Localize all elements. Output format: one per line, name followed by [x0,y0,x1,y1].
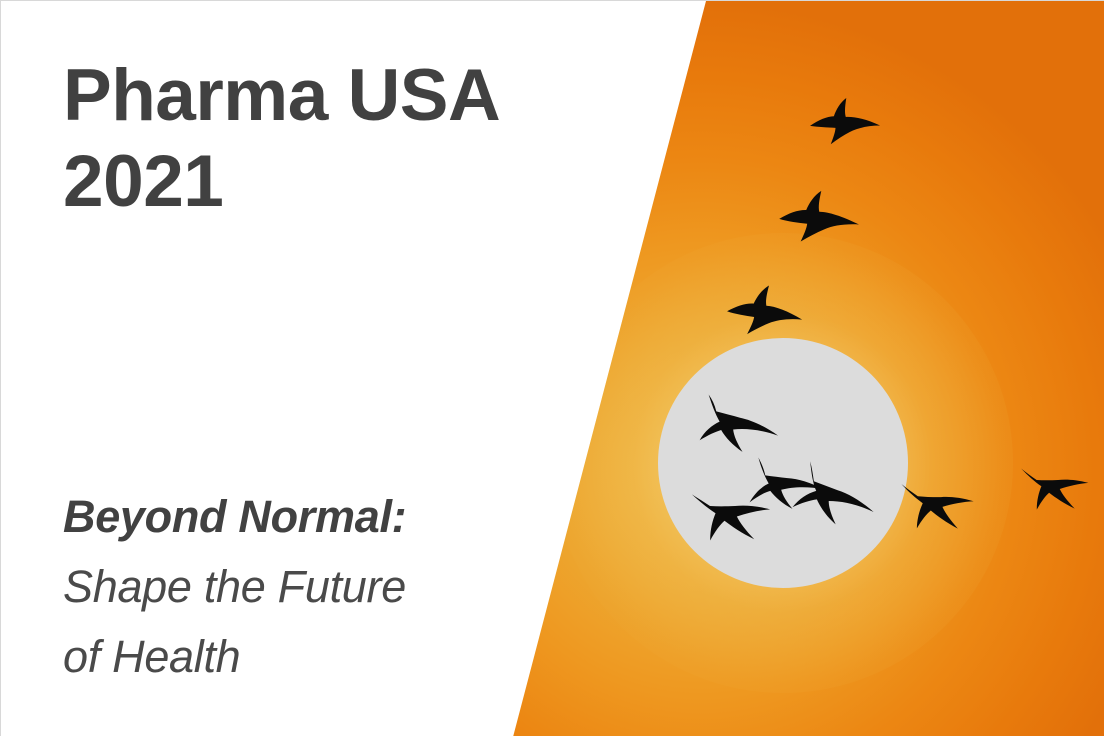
bird-icon [1014,451,1093,530]
event-banner: Pharma USA 2021 Beyond Normal: Shape the… [0,0,1104,736]
subtitle-lead: Beyond Normal: [63,482,533,552]
bird-icon [722,272,809,359]
text-column: Pharma USA 2021 Beyond Normal: Shape the… [1,1,561,736]
subtitle-block: Beyond Normal: Shape the Future of Healt… [63,482,533,692]
subtitle-rest: Shape the Future of Health [63,552,533,692]
bird-icon [774,176,866,268]
bird-icon [892,463,980,551]
bird-icon [781,445,885,549]
bird-icon [802,80,890,168]
page-title: Pharma USA 2021 [63,53,533,225]
